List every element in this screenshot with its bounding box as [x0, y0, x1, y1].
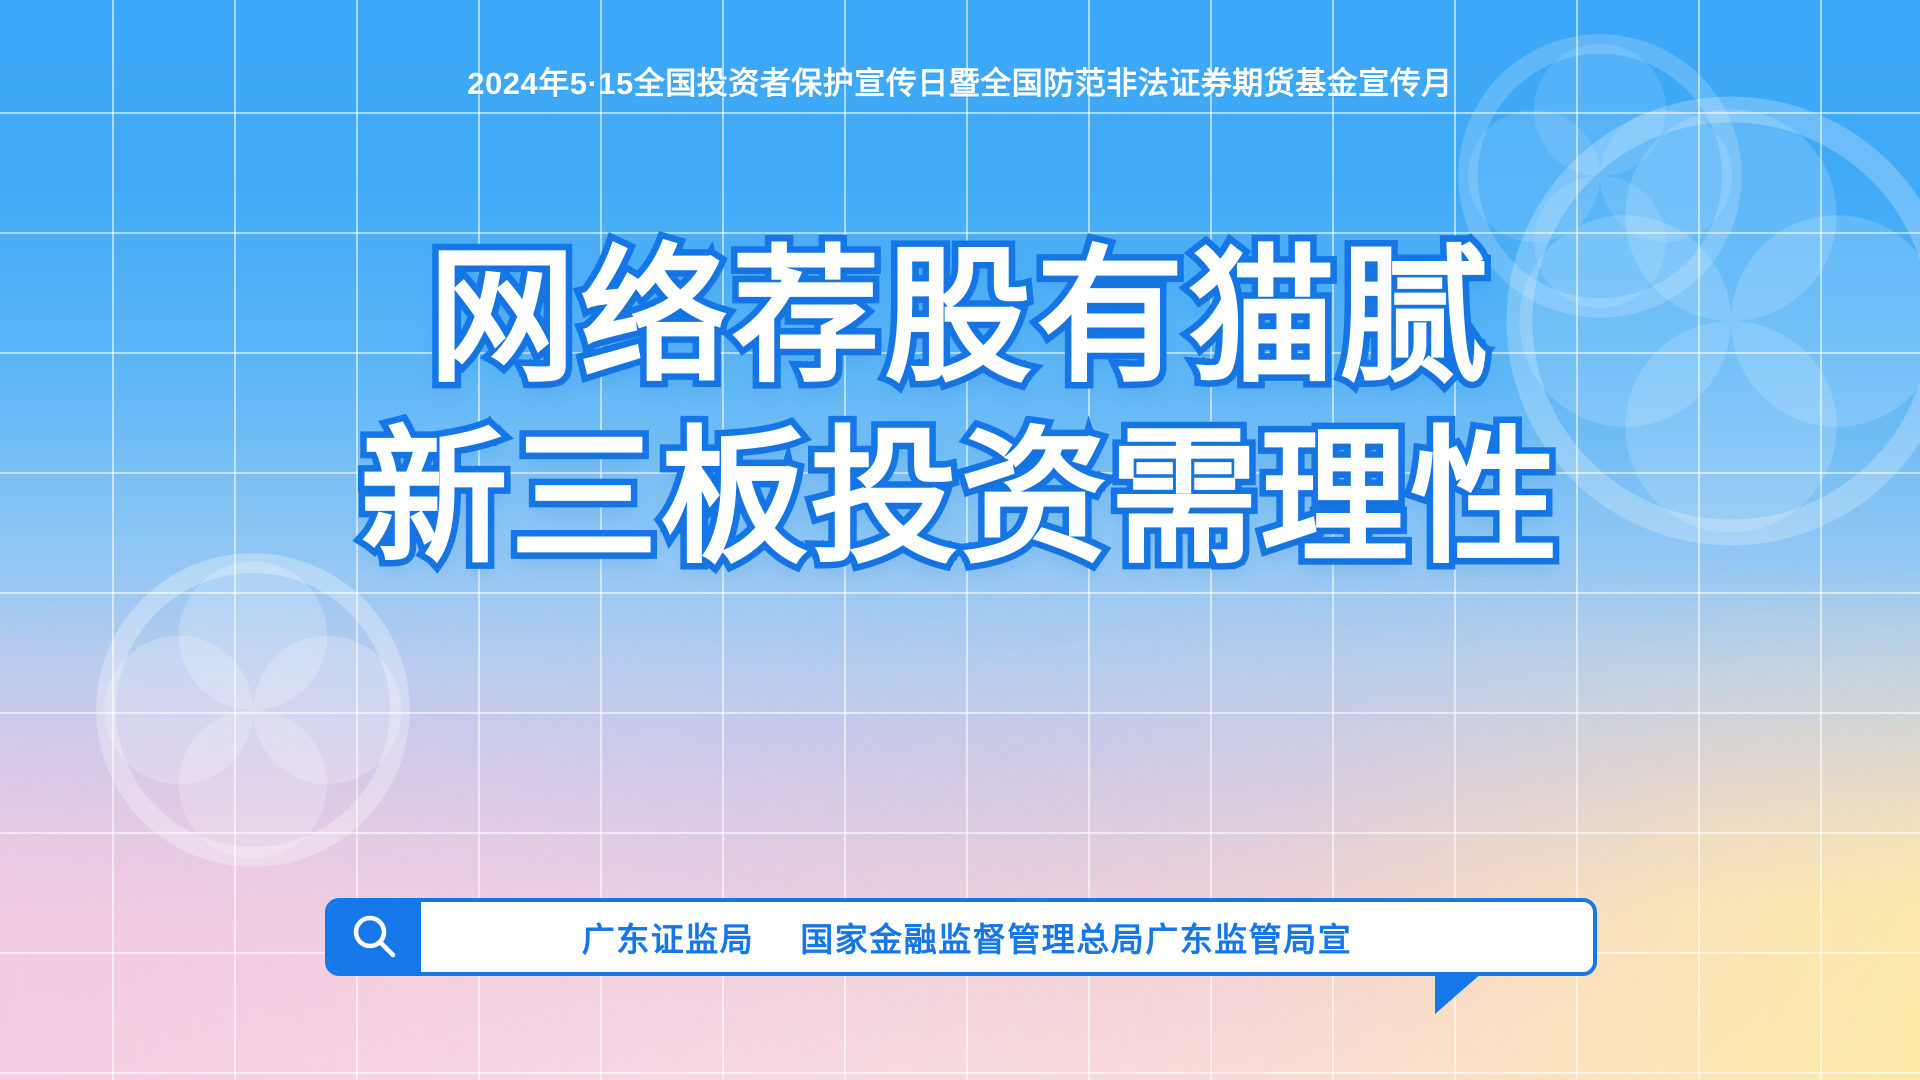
- speech-bubble-tail: [1435, 972, 1483, 1014]
- title-line-2: 新三板投资需理性: [0, 409, 1920, 590]
- title-line-1: 网络荐股有猫腻: [0, 228, 1920, 409]
- campaign-header: 2024年5·15全国投资者保护宣传日暨全国防范非法证券期货基金宣传月: [0, 58, 1920, 103]
- main-title: 网络荐股有猫腻 新三板投资需理性: [0, 228, 1920, 589]
- quatrefoil-decoration-bottom-left: [88, 545, 418, 875]
- organization-nfra-guangdong: 国家金融监督管理总局广东监管局宣: [800, 913, 1352, 961]
- search-icon: [329, 902, 421, 972]
- organization-guangdong-csrc: 广东证监局: [582, 913, 755, 961]
- footer-organizations: 广东证监局 国家金融监督管理总局广东监管局宣: [421, 902, 1593, 972]
- poster-canvas: 2024年5·15全国投资者保护宣传日暨全国防范非法证券期货基金宣传月 网络荐股…: [0, 0, 1920, 1080]
- footer-bubble-body: 广东证监局 国家金融监督管理总局广东监管局宣: [325, 898, 1597, 976]
- footer-bubble: 广东证监局 国家金融监督管理总局广东监管局宣: [325, 898, 1597, 976]
